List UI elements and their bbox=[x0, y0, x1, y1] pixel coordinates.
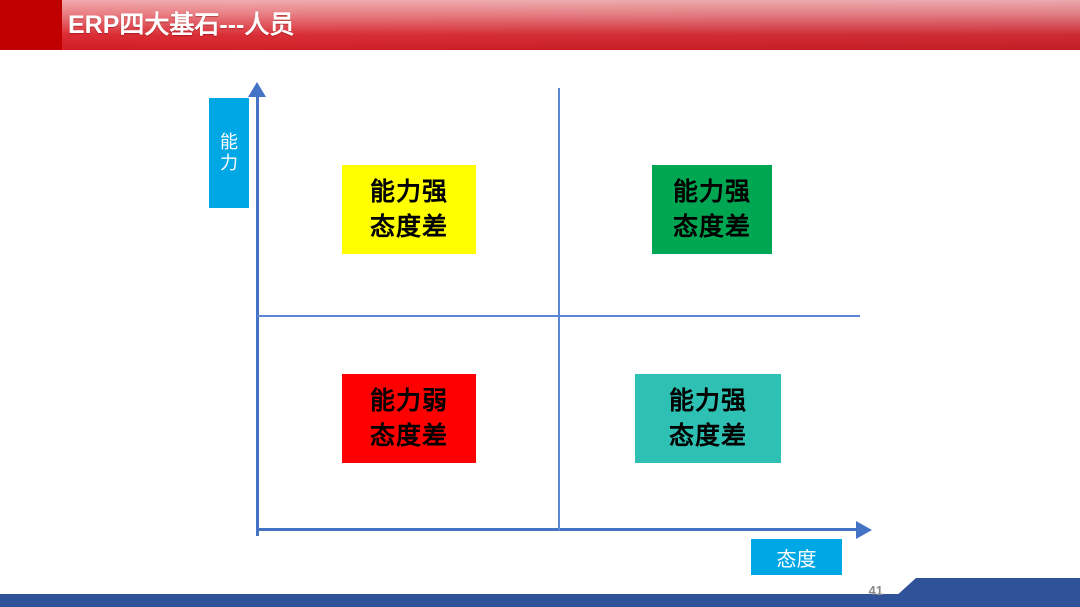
y-axis-label-char-1: 能 bbox=[220, 132, 238, 153]
quadrant-line-1: 能力强 bbox=[370, 175, 448, 210]
quadrant-divider-horizontal bbox=[257, 315, 860, 317]
x-axis-label-chip: 态度 bbox=[751, 539, 842, 575]
quadrant-box-top-left: 能力强 态度差 bbox=[342, 165, 476, 254]
quadrant-box-bottom-left: 能力弱 态度差 bbox=[342, 374, 476, 463]
y-axis-label-char-2: 力 bbox=[220, 153, 238, 174]
quadrant-line-1: 能力强 bbox=[669, 384, 747, 419]
y-axis-label-chip: 能 力 bbox=[209, 98, 249, 208]
x-axis-arrow-icon bbox=[856, 521, 872, 539]
quadrant-box-top-right: 能力强 态度差 bbox=[652, 165, 772, 254]
quadrant-box-bottom-right: 能力强 态度差 bbox=[635, 374, 781, 463]
quadrant-line-2: 态度差 bbox=[669, 419, 747, 454]
page-title: ERP四大基石---人员 bbox=[68, 9, 294, 41]
quadrant-chart: 能 力 态度 能力强 态度差 能力强 态度差 能力弱 态度差 能力强 态度差 bbox=[0, 54, 1080, 554]
y-axis-arrow-icon bbox=[248, 82, 266, 97]
x-axis-line bbox=[256, 528, 858, 531]
page-number: 41 bbox=[855, 582, 883, 600]
slide: ERP四大基石---人员 能 力 态度 能力强 态度差 能力强 态度差 能力弱 bbox=[0, 0, 1080, 607]
quadrant-line-2: 态度差 bbox=[673, 210, 751, 245]
footer-wedge-shape bbox=[862, 578, 1080, 607]
quadrant-line-1: 能力强 bbox=[673, 175, 751, 210]
x-axis-label-text: 态度 bbox=[777, 543, 817, 572]
quadrant-divider-vertical bbox=[558, 88, 560, 531]
quadrant-line-1: 能力弱 bbox=[370, 384, 448, 419]
quadrant-line-2: 态度差 bbox=[370, 210, 448, 245]
quadrant-line-2: 态度差 bbox=[370, 419, 448, 454]
header-accent-block bbox=[0, 0, 62, 50]
header-underline bbox=[0, 50, 1080, 53]
